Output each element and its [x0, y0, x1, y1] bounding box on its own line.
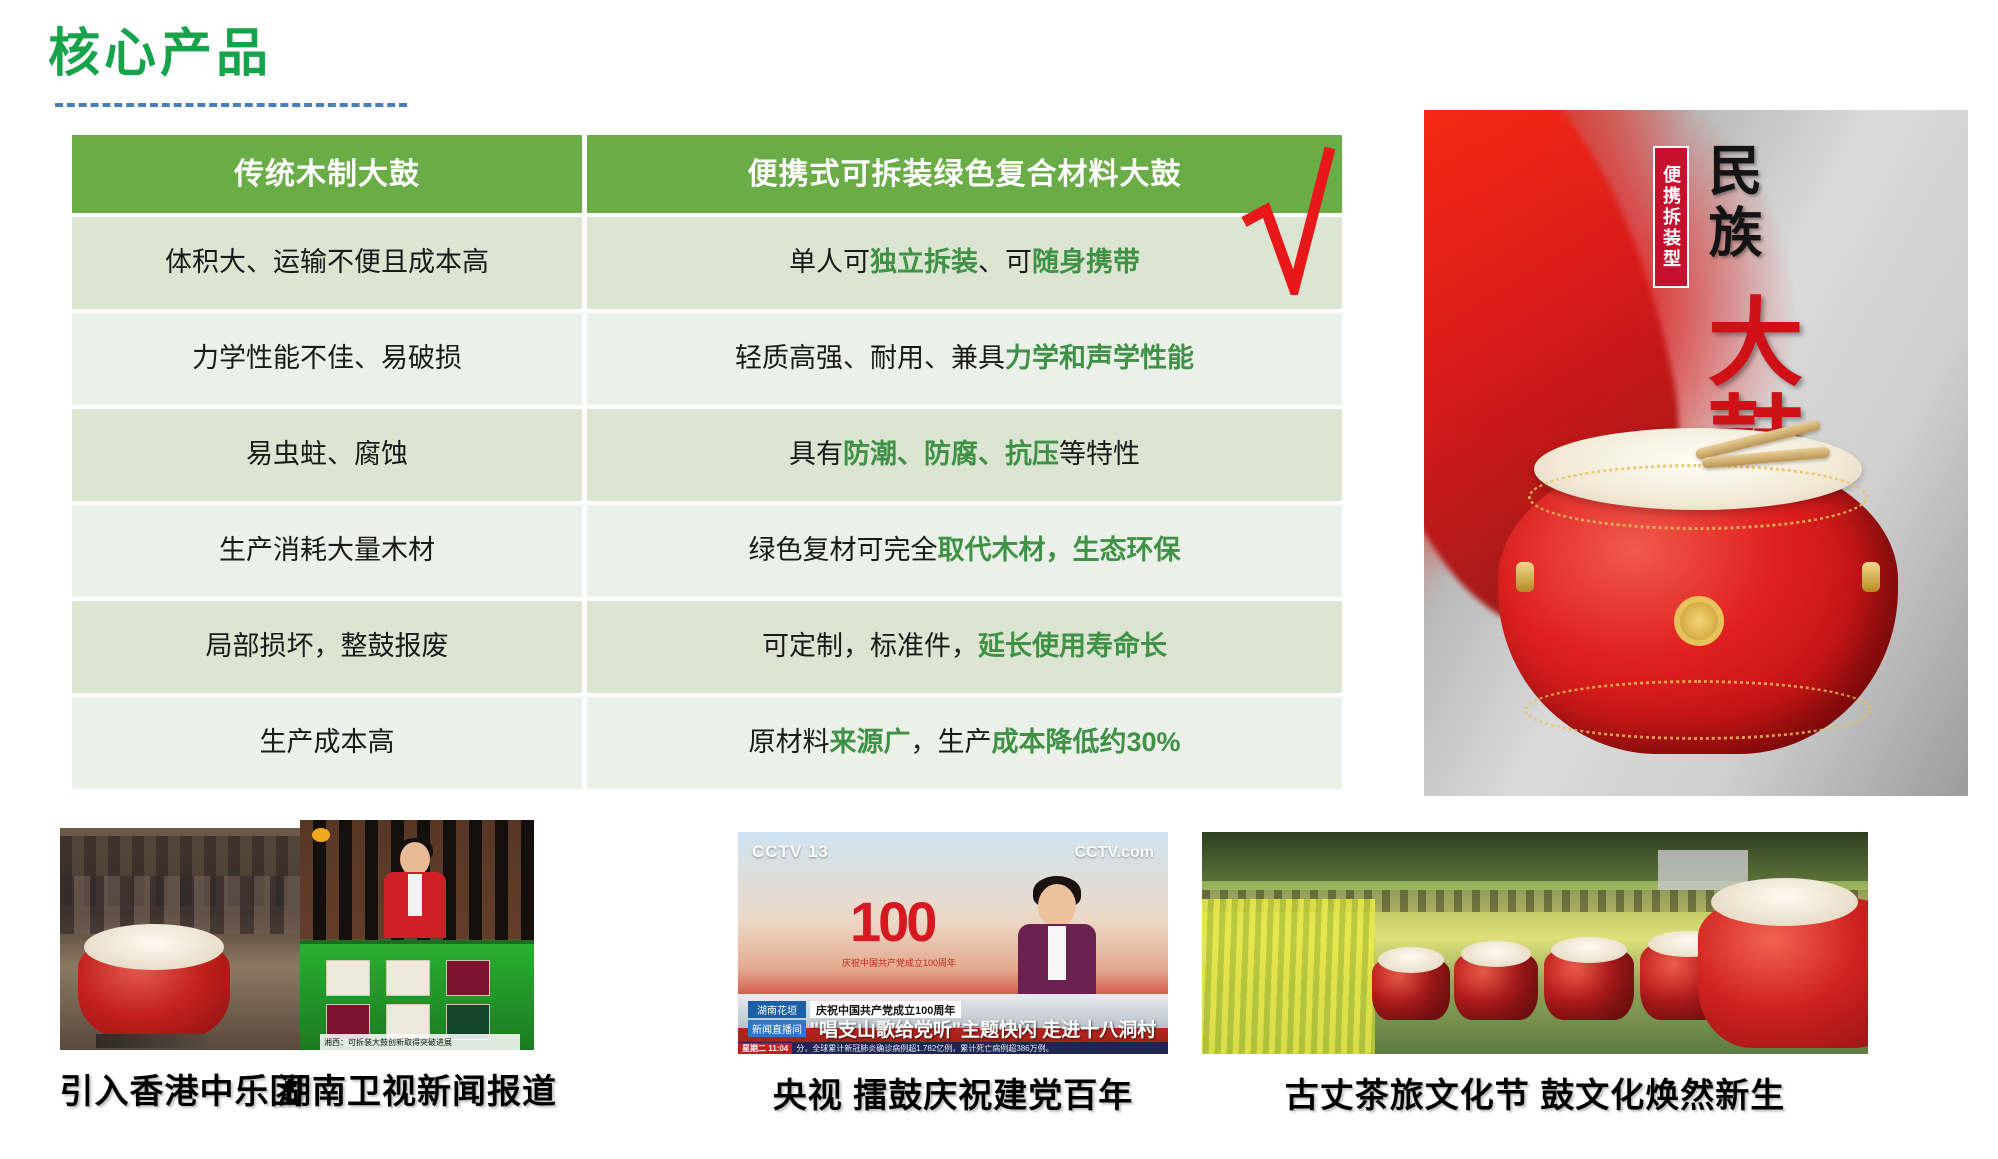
location-tag: 湖南花垣: [748, 1001, 806, 1018]
cell-composite: 绿色复材可完全取代木材，生态环保: [587, 505, 1342, 597]
orchestra-drum: [78, 938, 230, 1038]
table-row: 易虫蛀、腐蚀具有防潮、防腐、抗压等特性: [72, 409, 1342, 501]
drum-tack-left: [1516, 562, 1534, 592]
ticker-text: 分，全球累计新冠肺炎确诊病例超1.782亿例，累计死亡病例超386万例。: [796, 1043, 1053, 1054]
cell-traditional: 局部损坏，整鼓报废: [72, 601, 582, 693]
news-anchor: [1018, 884, 1096, 1012]
plain-text: ，生产: [910, 725, 991, 760]
title-divider: [55, 103, 407, 107]
table-row: 生产消耗大量木材绿色复材可完全取代木材，生态环保: [72, 505, 1342, 597]
cell-traditional: 生产成本高: [72, 697, 582, 789]
plain-text: 原材料: [748, 725, 829, 760]
festival-drum-1: [1372, 958, 1450, 1020]
cell-composite: 原材料来源广，生产成本降低约30%: [587, 697, 1342, 789]
anchor-shirt: [1048, 926, 1066, 980]
cell-traditional: 力学性能不佳、易破损: [72, 313, 582, 405]
drum-rim-top: [1528, 464, 1868, 530]
photo-item-hunan-tv: 午闻新闻 湘西：可拆装大鼓创新取得突破进展 湘西：可拆装大鼓创新取得突破进展 湖…: [300, 820, 534, 1050]
drum-rim-bottom: [1524, 680, 1872, 740]
plain-text: 具有: [789, 437, 843, 472]
promo-badge: 便携拆装型: [1653, 146, 1689, 288]
news-chyron-secondary: 湘西：可拆装大鼓创新取得突破进展: [320, 1034, 520, 1050]
highlighted-text: 独立拆装: [870, 245, 978, 280]
anchor-shirt: [408, 874, 422, 916]
photo-caption-1: 引入香港中乐团: [60, 1064, 305, 1113]
table-body: 体积大、运输不便且成本高单人可独立拆装、可随身携带力学性能不佳、易破损轻质高强、…: [72, 217, 1342, 789]
photo-item-hk-orchestra: 引入香港中乐团: [60, 828, 304, 1050]
highlighted-text: 防潮、防腐、抗压: [843, 437, 1059, 472]
party-100-logo: 100: [850, 894, 934, 950]
photo-cctv-news: CCTV 13 CCTV.com 100 庆祝中国共产党成立100周年 湖南花垣…: [738, 832, 1168, 1054]
channel-logo-icon: [312, 828, 330, 842]
cell-composite: 单人可独立拆装、可随身携带: [587, 217, 1342, 309]
ticker-timestamp: 星期二 11:04: [738, 1043, 792, 1054]
plain-text: 、可: [978, 245, 1032, 280]
plain-text: 绿色复材可完全: [749, 533, 938, 568]
plain-text: 单人可: [789, 245, 870, 280]
anchor-head: [1038, 884, 1076, 928]
comparison-table: 传统木制大鼓 便携式可拆装绿色复合材料大鼓 体积大、运输不便且成本高单人可独立拆…: [72, 135, 1342, 795]
drum-tack-right: [1862, 562, 1880, 592]
cctv-channel-logo: CCTV 13: [752, 842, 829, 862]
highlighted-text: 来源广: [829, 725, 910, 760]
photo-hunan-tv: 午闻新闻 湘西：可拆装大鼓创新取得突破进展 湘西：可拆装大鼓创新取得突破进展: [300, 820, 534, 1050]
photo-strip: 引入香港中乐团 午闻新闻 湘西：可拆装大鼓创新取得突破进展: [0, 812, 1998, 1159]
plain-text: 轻质高强、耐用、兼具: [735, 341, 1005, 376]
photo-item-tea-festival: 古丈茶旅文化节 鼓文化焕然新生: [1202, 832, 1868, 1054]
highlighted-text: 取代木材，生态环保: [938, 533, 1181, 568]
highlighted-text: 延长使用寿命长: [978, 629, 1167, 664]
header-cell-composite: 便携式可拆装绿色复合材料大鼓: [587, 135, 1342, 213]
anchor-head: [400, 842, 430, 876]
hillside-backdrop: [1202, 832, 1868, 881]
drum-stand: [96, 1034, 208, 1048]
table-header-row: 传统木制大鼓 便携式可拆装绿色复合材料大鼓: [72, 135, 1342, 213]
highlighted-text: 力学和声学性能: [1005, 341, 1194, 376]
table-row: 力学性能不佳、易破损轻质高强、耐用、兼具力学和声学性能: [72, 313, 1342, 405]
highlighted-text: 成本降低约30%: [991, 725, 1180, 760]
cctv-watermark: CCTV.com: [1075, 844, 1154, 862]
header-cell-traditional: 传统木制大鼓: [72, 135, 582, 213]
highlighted-text: 随身携带: [1032, 245, 1140, 280]
cell-traditional: 易虫蛀、腐蚀: [72, 409, 582, 501]
festival-drum-2: [1454, 952, 1538, 1020]
photo-caption-4: 古丈茶旅文化节 鼓文化焕然新生: [1285, 1068, 1785, 1117]
plain-text: 等特性: [1059, 437, 1140, 472]
photo-item-cctv: CCTV 13 CCTV.com 100 庆祝中国共产党成立100周年 湖南花垣…: [738, 832, 1168, 1054]
cell-composite: 具有防潮、防腐、抗压等特性: [587, 409, 1342, 501]
slide-root: 核心产品 传统木制大鼓 便携式可拆装绿色复合材料大鼓 体积大、运输不便且成本高单…: [0, 0, 1998, 1159]
drum-ring-handle: [1674, 596, 1724, 646]
table-row: 体积大、运输不便且成本高单人可独立拆装、可随身携带: [72, 217, 1342, 309]
festival-drum-3: [1544, 948, 1634, 1020]
news-ticker: 星期二 11:04 分，全球累计新冠肺炎确诊病例超1.782亿例，累计死亡病例超…: [738, 1042, 1168, 1054]
green-display-table: 湘西：可拆装大鼓创新取得突破进展: [300, 944, 534, 1050]
cell-composite: 轻质高强、耐用、兼具力学和声学性能: [587, 313, 1342, 405]
page-title: 核心产品: [48, 26, 272, 83]
cell-composite: 可定制，标准件，延长使用寿命长: [587, 601, 1342, 693]
certificate-3: [446, 960, 490, 996]
party-100-subtitle: 庆祝中国共产党成立100周年: [842, 956, 956, 969]
canola-field: [1202, 899, 1375, 1054]
cell-traditional: 体积大、运输不便且成本高: [72, 217, 582, 309]
certificate-1: [326, 960, 370, 996]
certificate-2: [386, 960, 430, 996]
product-promo-image: 便携拆装型 民族 大鼓: [1424, 110, 1968, 796]
drum-sticks: [1694, 430, 1864, 470]
photo-hk-orchestra: [60, 828, 304, 1050]
table-row: 局部损坏，整鼓报废可定制，标准件，延长使用寿命长: [72, 601, 1342, 693]
photo-caption-2: 湖南卫视新闻报道: [277, 1064, 557, 1113]
festival-drum-foreground: [1698, 898, 1868, 1048]
news-anchor: [384, 842, 446, 938]
table-row: 生产成本高原材料来源广，生产成本降低约30%: [72, 697, 1342, 789]
program-tag: 新闻直播间: [748, 1020, 806, 1037]
cell-traditional: 生产消耗大量木材: [72, 505, 582, 597]
photo-caption-3: 央视 擂鼓庆祝建党百年: [773, 1068, 1133, 1117]
headline-primary: "唱支山歌给党听"主题快闪 走进十八洞村: [810, 1015, 1156, 1042]
drum-illustration: [1498, 454, 1898, 754]
plain-text: 可定制，标准件，: [762, 629, 978, 664]
photo-tea-festival: [1202, 832, 1868, 1054]
promo-title-minzu: 民族: [1692, 142, 1771, 266]
